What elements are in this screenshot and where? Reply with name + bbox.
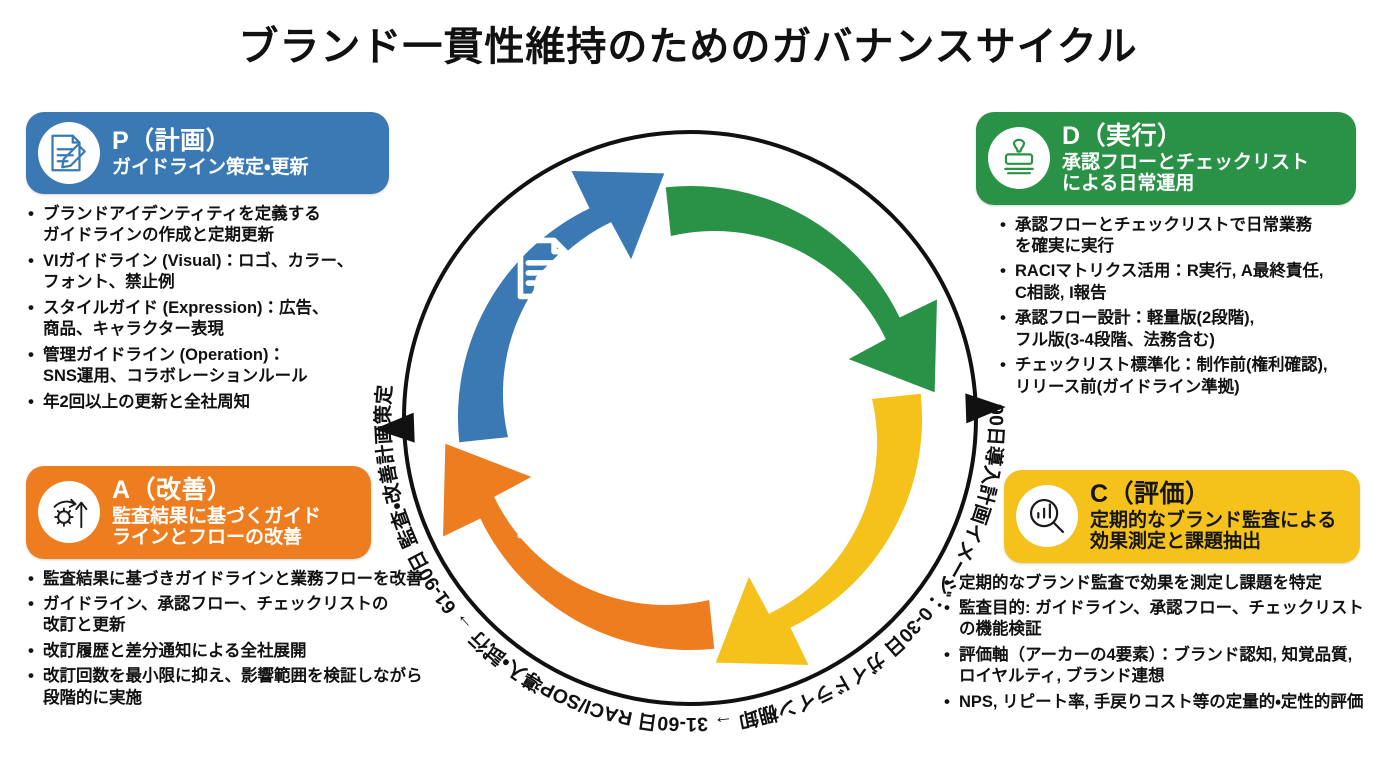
list-item: 承認フロー設計：軽量版(2段階),フル版(3-4段階、法務含む) [998, 308, 1376, 351]
stamp-icon [988, 127, 1050, 189]
check-badge[interactable]: C（評価） 定期的なブランド監査による効果測定と課題抽出 [1004, 470, 1360, 563]
act-bullet-list: 監査結果に基づきガイドラインと業務フローを改善 ガイドライン、承認フロー、チェッ… [26, 569, 446, 710]
list-item: 定期的なブランド監査で効果を測定し課題を特定 [942, 573, 1370, 594]
do-arrow-green [666, 160, 947, 418]
act-subtitle: 監査結果に基づくガイドラインとフローの改善 [112, 506, 321, 549]
list-item: ガイドライン、承認フロー、チェックリストの改訂と更新 [26, 594, 446, 637]
quadrant-check: C（評価） 定期的なブランド監査による効果測定と課題抽出 定期的なブランド監査で… [1004, 470, 1360, 717]
plan-badge[interactable]: P（計画） ガイドライン策定・更新 [26, 112, 389, 194]
quadrant-act: A（改善） 監査結果に基づくガイドラインとフローの改善 監査結果に基づきガイドラ… [26, 466, 446, 713]
list-item: 改訂履歴と差分通知による全社展開 [26, 641, 446, 662]
list-item: 年2回以上の更新と全社周知 [26, 392, 404, 413]
quadrant-plan: P（計画） ガイドライン策定・更新 ブランドアイデンティティを定義するガイドライ… [26, 112, 404, 417]
list-item: 承認フローとチェックリストで日常業務を確実に実行 [998, 215, 1376, 258]
plan-subtitle: ガイドライン策定・更新 [112, 157, 308, 178]
page-title: ブランド一貫性維持のためのガバナンスサイクル [0, 14, 1376, 72]
do-subtitle: 承認フローとチェックリストによる日常運用 [1062, 152, 1309, 195]
plan-bullet-list: ブランドアイデンティティを定義するガイドラインの作成と定期更新 VIガイドライン… [26, 204, 404, 413]
list-item: 評価軸（アーカーの4要素）：ブランド認知, 知覚品質,ロイヤルティ, ブランド連… [942, 645, 1370, 688]
list-item: 監査結果に基づきガイドラインと業務フローを改善 [26, 569, 446, 590]
list-item: RACIマトリクス活用：R実行, A最終責任,C相談, I報告 [998, 261, 1376, 304]
magnifier-chart-icon [1016, 485, 1078, 547]
plan-arrow-blue [432, 161, 690, 442]
check-letter: C（評価） [1090, 480, 1336, 508]
list-item: チェックリスト標準化：制作前(権利確認),リリース前(ガイドライン準拠) [998, 355, 1376, 398]
list-item: 監査目的: ガイドライン、承認フロー、チェックリストの機能検証 [942, 598, 1370, 641]
do-badge[interactable]: D（実行） 承認フローとチェックリストによる日常運用 [976, 112, 1356, 205]
list-item: 改訂回数を最小限に抑え、影響範囲を検証しながら段階的に実施 [26, 666, 446, 709]
list-item: スタイルガイド (Expression)：広告、商品、キャラクター表現 [26, 298, 404, 341]
plan-letter: P（計画） [112, 127, 308, 155]
act-letter: A（改善） [112, 476, 321, 504]
document-pencil-icon [38, 122, 100, 184]
list-item: ブランドアイデンティティを定義するガイドラインの作成と定期更新 [26, 204, 404, 247]
check-bullet-list: 定期的なブランド監査で効果を測定し課題を特定 監査目的: ガイドライン、承認フロ… [942, 573, 1370, 714]
infographic-page: ブランド一貫性維持のためのガバナンスサイクル 90日導入計画イメージ：0-30日… [0, 0, 1376, 768]
gear-arrows-icon [38, 481, 100, 543]
do-bullet-list: 承認フローとチェックリストで日常業務を確実に実行 RACIマトリクス活用：R実行… [998, 215, 1376, 399]
check-subtitle: 定期的なブランド監査による効果測定と課題抽出 [1090, 510, 1336, 553]
list-item: 管理ガイドライン (Operation)：SNS運用、コラボレーションルール [26, 345, 404, 388]
list-item: NPS, リピート率, 手戻りコスト等の定量的・定性的評価 [942, 692, 1370, 713]
list-item: VIガイドライン (Visual)：ロゴ、カラー、フォント、禁止例 [26, 251, 404, 294]
act-badge[interactable]: A（改善） 監査結果に基づくガイドラインとフローの改善 [26, 466, 371, 559]
quadrant-do: D（実行） 承認フローとチェックリストによる日常運用 承認フローとチェックリスト… [976, 112, 1356, 402]
do-letter: D（実行） [1062, 122, 1309, 150]
pdca-cycle-diagram: 90日導入計画イメージ：0-30日 ガイドライン棚卸 → 31-60日 RACI… [360, 88, 1020, 748]
